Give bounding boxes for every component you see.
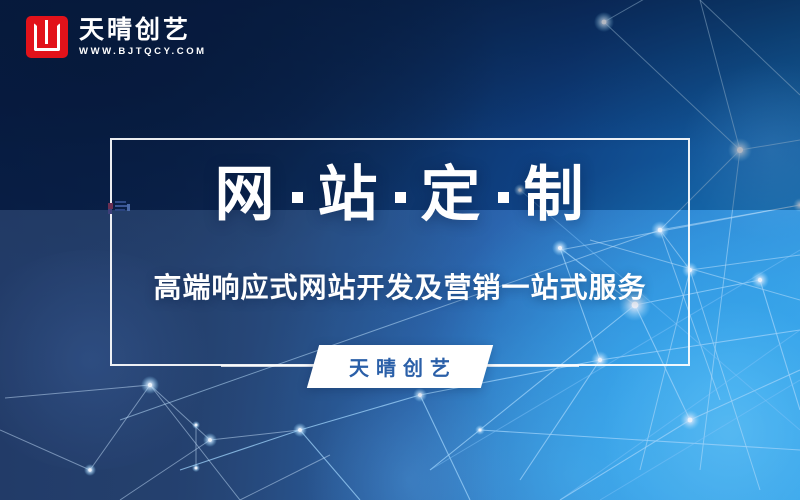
square-dot-icon — [395, 192, 406, 203]
brand-logo[interactable]: 天晴创艺 WWW.BJTQCY.COM — [26, 16, 207, 58]
square-dot-icon — [498, 192, 509, 203]
website-customization-banner: 天晴创艺 WWW.BJTQCY.COM 网 站 定 制 高端响应式网站开发及营销… — [0, 0, 800, 500]
badge-rule-left — [221, 365, 313, 367]
badge-rule-right — [487, 365, 579, 367]
headline-char-1: 网 — [215, 165, 277, 225]
brand-badge-label: 天晴创艺 — [349, 352, 457, 381]
headline-char-3: 定 — [421, 165, 483, 225]
brand-badge-row: 天晴创艺 — [0, 348, 800, 384]
page-title: 网 站 定 制 — [0, 165, 800, 225]
page-subtitle: 高端响应式网站开发及营销一站式服务 — [0, 266, 800, 306]
brand-website-url: WWW.BJTQCY.COM — [79, 47, 207, 57]
brand-name-cn: 天晴创艺 — [79, 17, 207, 42]
headline-char-2: 站 — [318, 165, 380, 225]
headline-char-4: 制 — [524, 165, 586, 225]
brand-logo-text: 天晴创艺 WWW.BJTQCY.COM — [79, 17, 207, 57]
brand-badge: 天晴创艺 — [307, 345, 493, 388]
square-dot-icon — [292, 192, 303, 203]
tqcy-square-logo-icon — [26, 16, 68, 58]
